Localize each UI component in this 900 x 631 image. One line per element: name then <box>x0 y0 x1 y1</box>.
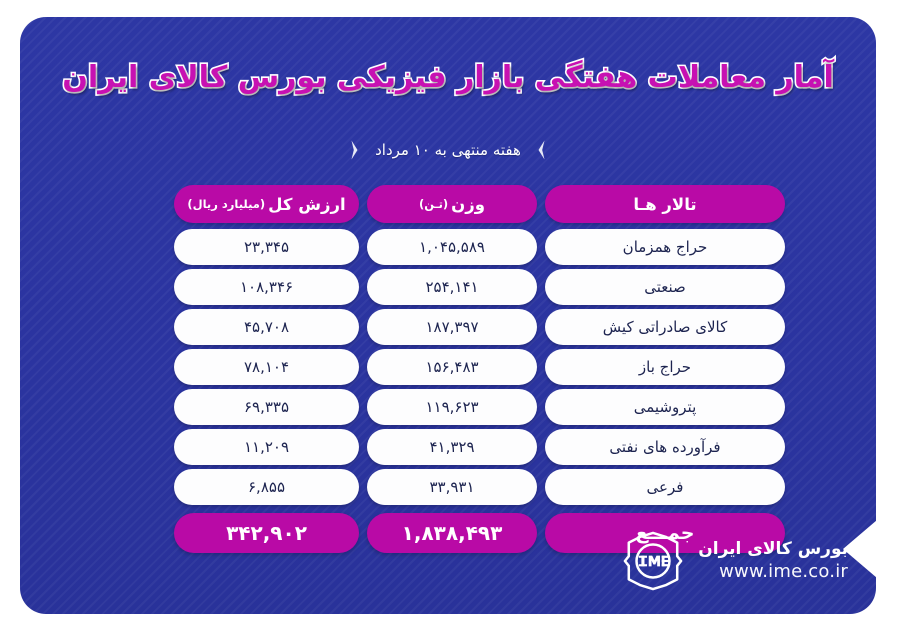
cell-weight: ۱,۰۴۵,۵۸۹ <box>367 229 537 265</box>
website-url[interactable]: www.ime.co.ir <box>698 560 848 584</box>
column-header-value: ارزش کل (میلیارد ریال) <box>174 185 359 223</box>
cell-hall: فرعی <box>545 469 785 505</box>
column-header-weight-unit: (تـن) <box>419 197 448 211</box>
cell-value: ۲۳,۳۴۵ <box>174 229 359 265</box>
cell-value: ۶,۸۵۵ <box>174 469 359 505</box>
table-row: حراج همزمان ۱,۰۴۵,۵۸۹ ۲۳,۳۴۵ <box>175 229 785 265</box>
ime-logo-icon <box>622 530 684 592</box>
cell-value: ۱۱,۲۰۹ <box>174 429 359 465</box>
cell-hall: حراج همزمان <box>545 229 785 265</box>
title-block: آمار معاملات هفتگی بازار فیزیکی بورس کال… <box>20 59 876 97</box>
subtitle-block: هفته منتهی به ۱۰ مرداد <box>20 139 876 161</box>
cell-hall: کالای صادراتی کیش <box>545 309 785 345</box>
cell-value: ۷۸,۱۰۴ <box>174 349 359 385</box>
statistics-table: تالار هـا وزن (تـن) ارزش کل (میلیارد ریا… <box>175 185 785 553</box>
organization-name: بورس کالای ایران <box>698 538 848 560</box>
chevron-left-icon <box>535 139 548 161</box>
table-header-row: تالار هـا وزن (تـن) ارزش کل (میلیارد ریا… <box>175 185 785 223</box>
footer: بورس کالای ایران www.ime.co.ir <box>622 530 848 592</box>
table-row: فرعی ۳۳,۹۳۱ ۶,۸۵۵ <box>175 469 785 505</box>
cell-hall: حراج باز <box>545 349 785 385</box>
table-row: حراج باز ۱۵۶,۴۸۳ ۷۸,۱۰۴ <box>175 349 785 385</box>
content-panel: آمار معاملات هفتگی بازار فیزیکی بورس کال… <box>20 17 876 614</box>
cell-weight: ۴۱,۳۲۹ <box>367 429 537 465</box>
cell-value: ۴۵,۷۰۸ <box>174 309 359 345</box>
total-weight: ۱,۸۳۸,۴۹۳ <box>367 513 537 553</box>
cell-weight: ۲۵۴,۱۴۱ <box>367 269 537 305</box>
column-header-hall: تالار هـا <box>545 185 785 223</box>
cell-hall: صنعتی <box>545 269 785 305</box>
chevron-right-icon <box>348 139 361 161</box>
cell-weight: ۳۳,۹۳۱ <box>367 469 537 505</box>
table-row: پتروشیمی ۱۱۹,۶۲۳ ۶۹,۳۳۵ <box>175 389 785 425</box>
column-header-value-unit: (میلیارد ریال) <box>187 197 265 211</box>
table-row: صنعتی ۲۵۴,۱۴۱ ۱۰۸,۳۴۶ <box>175 269 785 305</box>
total-value: ۳۴۲,۹۰۲ <box>174 513 359 553</box>
cell-weight: ۱۵۶,۴۸۳ <box>367 349 537 385</box>
cell-hall: پتروشیمی <box>545 389 785 425</box>
cell-hall: فرآورده های نفتی <box>545 429 785 465</box>
column-header-weight-label: وزن <box>451 195 485 214</box>
infographic-root: آمار معاملات هفتگی بازار فیزیکی بورس کال… <box>0 0 900 631</box>
cell-weight: ۱۸۷,۳۹۷ <box>367 309 537 345</box>
page-title: آمار معاملات هفتگی بازار فیزیکی بورس کال… <box>62 59 834 97</box>
cell-value: ۶۹,۳۳۵ <box>174 389 359 425</box>
table-row: کالای صادراتی کیش ۱۸۷,۳۹۷ ۴۵,۷۰۸ <box>175 309 785 345</box>
footer-text-block: بورس کالای ایران www.ime.co.ir <box>698 538 848 584</box>
cell-weight: ۱۱۹,۶۲۳ <box>367 389 537 425</box>
column-header-weight: وزن (تـن) <box>367 185 537 223</box>
column-header-value-label: ارزش کل <box>268 195 346 214</box>
table-row: فرآورده های نفتی ۴۱,۳۲۹ ۱۱,۲۰۹ <box>175 429 785 465</box>
cell-value: ۱۰۸,۳۴۶ <box>174 269 359 305</box>
subtitle-text: هفته منتهی به ۱۰ مرداد <box>375 141 521 159</box>
column-header-hall-label: تالار هـا <box>633 195 696 214</box>
